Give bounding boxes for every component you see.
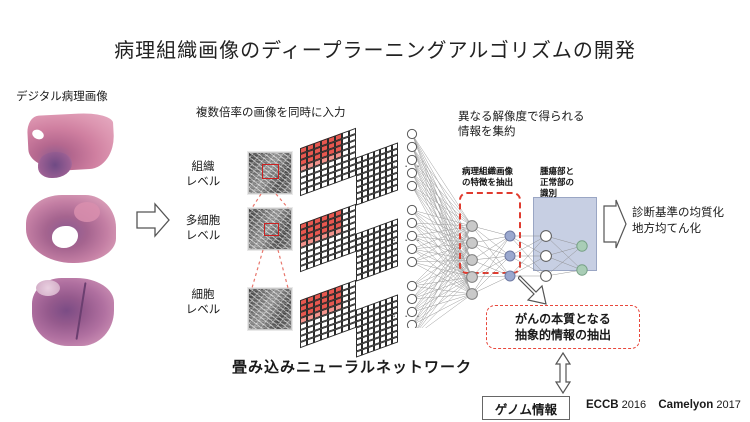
discrimination-line3: 識別: [540, 188, 574, 199]
discrimination-line1: 腫瘍部と: [540, 166, 574, 177]
level-label-multicell: 多細胞 レベル: [172, 214, 234, 244]
double-arrow-icon: [553, 352, 573, 394]
tissue-patch-thumbnail-1: [248, 152, 292, 194]
level-unit-2: レベル: [172, 229, 234, 244]
level-name-3: 細胞: [172, 288, 234, 303]
classification-region: [533, 197, 597, 271]
discrimination-line2: 正常部の: [540, 177, 574, 188]
aggregate-note-line1: 異なる解像度で得られる: [458, 110, 585, 125]
pathology-slide-image-2: [22, 190, 120, 268]
feature-extraction-line1: 病理組織画像: [462, 166, 513, 177]
abstract-information-box: がんの本質となる 抽象的情報の抽出: [486, 305, 640, 349]
feature-extraction-region: [459, 192, 521, 274]
roi-box-2: [264, 223, 279, 236]
cnn-caption: 畳み込みニューラルネットワーク: [232, 356, 472, 377]
outcome-line1: 診断基準の均質化: [632, 205, 724, 221]
outcome-line2: 地方均てん化: [632, 221, 724, 237]
pathology-slide-image-1: [22, 108, 120, 186]
discrimination-note: 腫瘍部と 正常部の 識別: [540, 166, 574, 199]
outcome-note: 診断基準の均質化 地方均てん化: [632, 205, 724, 237]
level-label-tissue: 組織 レベル: [172, 160, 234, 190]
level-unit-3: レベル: [172, 303, 234, 318]
tissue-patch-thumbnail-2: [248, 208, 292, 250]
conference-name-1: ECCB: [586, 399, 619, 411]
level-unit-1: レベル: [172, 175, 234, 190]
level-label-cell: 細胞 レベル: [172, 288, 234, 318]
conference-year-1: 2016: [622, 399, 646, 411]
abstract-line1: がんの本質となる: [515, 311, 611, 327]
level-name-2: 多細胞: [172, 214, 234, 229]
digital-pathology-label: デジタル病理画像: [16, 88, 108, 104]
roi-box-1: [262, 164, 279, 179]
level-name-1: 組織: [172, 160, 234, 175]
aggregate-note-line2: 情報を集約: [458, 125, 585, 140]
tissue-patch-thumbnail-3: [248, 288, 292, 330]
page-title: 病理組織画像のディープラーニングアルゴリズムの開発: [0, 34, 750, 63]
feature-extraction-note: 病理組織画像 の特徴を抽出: [462, 166, 513, 188]
pathology-slide-image-3: [22, 272, 120, 350]
conference-year-2: 2017: [716, 399, 740, 411]
input-note: 複数倍率の画像を同時に入力: [196, 104, 346, 120]
genome-information-box: ゲノム情報: [482, 396, 570, 420]
aggregate-note: 異なる解像度で得られる 情報を集約: [458, 110, 585, 140]
right-block-arrow-icon: [136, 202, 170, 238]
outcome-block-arrow-icon: [602, 198, 628, 250]
diagonal-block-arrow-icon: [518, 272, 560, 308]
abstract-line2: 抽象的情報の抽出: [515, 327, 611, 343]
conference-credits: ECCB 2016 Camelyon 2017: [586, 399, 741, 411]
feature-extraction-line2: の特徴を抽出: [462, 177, 513, 188]
conference-name-2: Camelyon: [658, 399, 713, 411]
